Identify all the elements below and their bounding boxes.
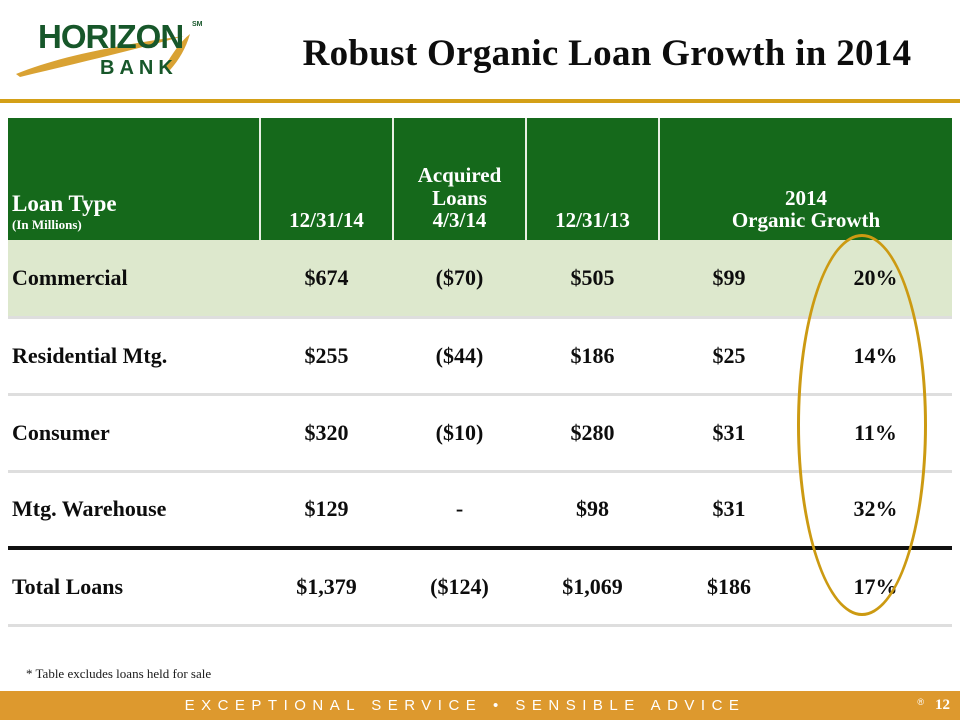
logo-wordmark: HORIZON xyxy=(38,20,183,53)
table-row: Residential Mtg. $255 ($44) $186 $25 14% xyxy=(8,317,952,394)
page-number: 12 xyxy=(935,697,950,714)
table-row-totals: Total Loans $1,379 ($124) $1,069 $186 17… xyxy=(8,548,952,625)
cell-commercial-organic-dollars: $99 xyxy=(659,240,799,317)
row-label-total-loans: Total Loans xyxy=(8,548,260,625)
logo-subword: BANK xyxy=(100,58,178,78)
logo-trademark: SM xyxy=(192,21,203,28)
table-row: Consumer $320 ($10) $280 $31 11% xyxy=(8,394,952,471)
loan-growth-table-wrapper: Loan Type (In Millions) 12/31/14 Acquire… xyxy=(8,118,952,627)
table-footnote: * Table excludes loans held for sale xyxy=(26,666,211,682)
cell-warehouse-balance-2013: $98 xyxy=(526,471,659,548)
cell-warehouse-balance-2014: $129 xyxy=(260,471,393,548)
cell-warehouse-organic-pct: 32% xyxy=(799,471,952,548)
row-label-commercial: Commercial xyxy=(8,240,260,317)
table-body: Commercial $674 ($70) $505 $99 20% Resid… xyxy=(8,240,952,625)
cell-warehouse-acquired: - xyxy=(393,471,526,548)
registered-mark-icon: ® xyxy=(917,697,924,707)
column-header-acquired-line2: Loans xyxy=(398,187,521,210)
cell-residential-organic-dollars: $25 xyxy=(659,317,799,394)
cell-residential-organic-pct: 14% xyxy=(799,317,952,394)
table-row: Commercial $674 ($70) $505 $99 20% xyxy=(8,240,952,317)
column-header-organic-label: Organic Growth xyxy=(664,209,948,232)
cell-commercial-organic-pct: 20% xyxy=(799,240,952,317)
table-header-row: Loan Type (In Millions) 12/31/14 Acquire… xyxy=(8,118,952,240)
cell-commercial-balance-2013: $505 xyxy=(526,240,659,317)
column-header-acquired-date: 4/3/14 xyxy=(398,209,521,232)
column-header-balance-2013: 12/31/13 xyxy=(526,118,659,240)
row-label-mtg-warehouse: Mtg. Warehouse xyxy=(8,471,260,548)
slide-header: HORIZON SM BANK Robust Organic Loan Grow… xyxy=(0,0,960,100)
cell-residential-balance-2013: $186 xyxy=(526,317,659,394)
column-header-loan-type-label: Loan Type xyxy=(12,192,255,217)
cell-residential-balance-2014: $255 xyxy=(260,317,393,394)
cell-commercial-acquired: ($70) xyxy=(393,240,526,317)
cell-warehouse-organic-dollars: $31 xyxy=(659,471,799,548)
column-header-acquired-line1: Acquired xyxy=(398,164,521,187)
cell-total-balance-2014: $1,379 xyxy=(260,548,393,625)
cell-total-organic-pct: 17% xyxy=(799,548,952,625)
cell-commercial-balance-2014: $674 xyxy=(260,240,393,317)
table-header: Loan Type (In Millions) 12/31/14 Acquire… xyxy=(8,118,952,240)
slide-footer: EXCEPTIONAL SERVICE • SENSIBLE ADVICE ® … xyxy=(0,691,960,720)
page-title: Robust Organic Loan Growth in 2014 xyxy=(262,32,952,75)
cell-consumer-organic-pct: 11% xyxy=(799,394,952,471)
footer-tagline: EXCEPTIONAL SERVICE • SENSIBLE ADVICE xyxy=(0,691,930,720)
column-header-balance-2014-date: 12/31/14 xyxy=(265,209,388,232)
column-header-organic-growth: 2014 Organic Growth xyxy=(659,118,952,240)
cell-total-organic-dollars: $186 xyxy=(659,548,799,625)
column-header-acquired-loans: Acquired Loans 4/3/14 xyxy=(393,118,526,240)
cell-total-acquired: ($124) xyxy=(393,548,526,625)
column-header-loan-type: Loan Type (In Millions) xyxy=(8,118,260,240)
header-divider xyxy=(0,99,960,103)
cell-consumer-acquired: ($10) xyxy=(393,394,526,471)
row-label-consumer: Consumer xyxy=(8,394,260,471)
column-header-loan-type-units: (In Millions) xyxy=(12,218,255,232)
cell-consumer-balance-2014: $320 xyxy=(260,394,393,471)
cell-consumer-balance-2013: $280 xyxy=(526,394,659,471)
slide: HORIZON SM BANK Robust Organic Loan Grow… xyxy=(0,0,960,720)
row-label-residential-mtg: Residential Mtg. xyxy=(8,317,260,394)
loan-growth-table: Loan Type (In Millions) 12/31/14 Acquire… xyxy=(8,118,952,627)
cell-total-balance-2013: $1,069 xyxy=(526,548,659,625)
column-header-organic-year: 2014 xyxy=(664,187,948,210)
table-row: Mtg. Warehouse $129 - $98 $31 32% xyxy=(8,471,952,548)
cell-residential-acquired: ($44) xyxy=(393,317,526,394)
cell-consumer-organic-dollars: $31 xyxy=(659,394,799,471)
column-header-balance-2014: 12/31/14 xyxy=(260,118,393,240)
horizon-bank-logo: HORIZON SM BANK xyxy=(14,14,214,86)
column-header-balance-2013-date: 12/31/13 xyxy=(531,209,654,232)
